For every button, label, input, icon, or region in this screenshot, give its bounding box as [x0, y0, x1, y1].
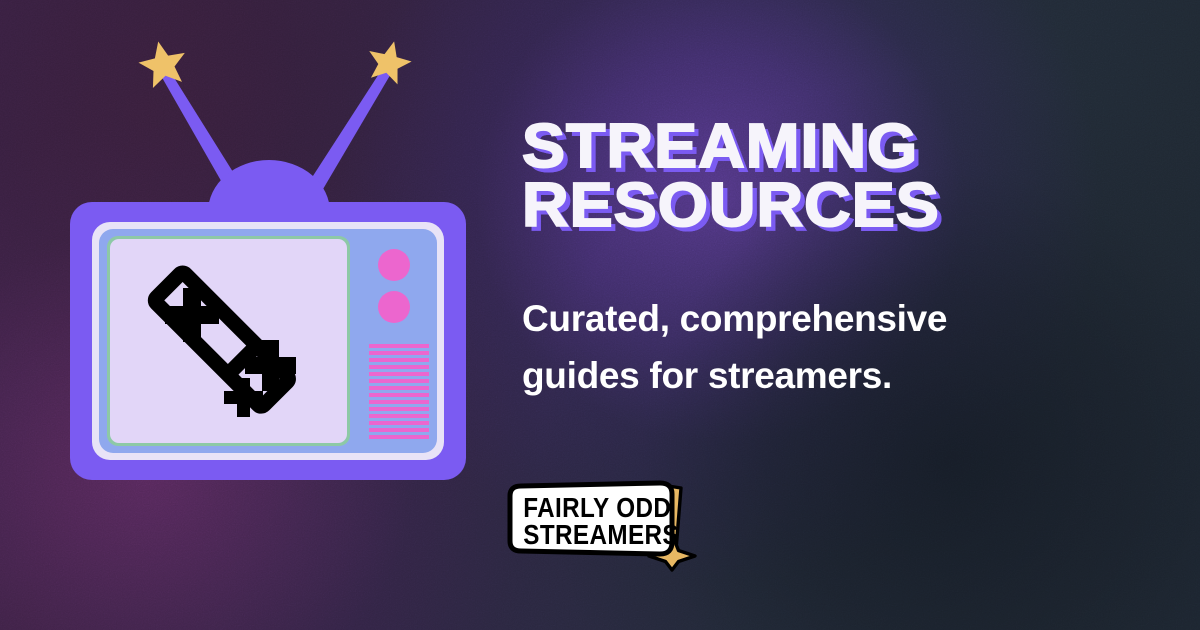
share-card-canvas: STREAMING RESOURCES Curated, comprehensi…	[0, 0, 1200, 630]
tv-screen	[110, 239, 347, 443]
retro-tv-illustration	[0, 0, 500, 520]
tv-knob-bottom	[378, 291, 410, 323]
antenna-star-left	[135, 37, 191, 90]
page-title-line-2: RESOURCES	[522, 177, 1167, 236]
logo-text-line-2: STREAMERS	[523, 518, 679, 550]
page-title: STREAMING RESOURCES	[522, 118, 1167, 236]
brand-logo[interactable]: FAIRLY ODD STREAMERS	[500, 478, 710, 574]
antenna-star-right	[363, 36, 415, 86]
tv-knob-top	[378, 249, 410, 281]
page-title-line-1: STREAMING	[522, 118, 1167, 177]
text-column: STREAMING RESOURCES Curated, comprehensi…	[522, 118, 1142, 404]
page-subtitle: Curated, comprehensive guides for stream…	[522, 236, 1067, 405]
